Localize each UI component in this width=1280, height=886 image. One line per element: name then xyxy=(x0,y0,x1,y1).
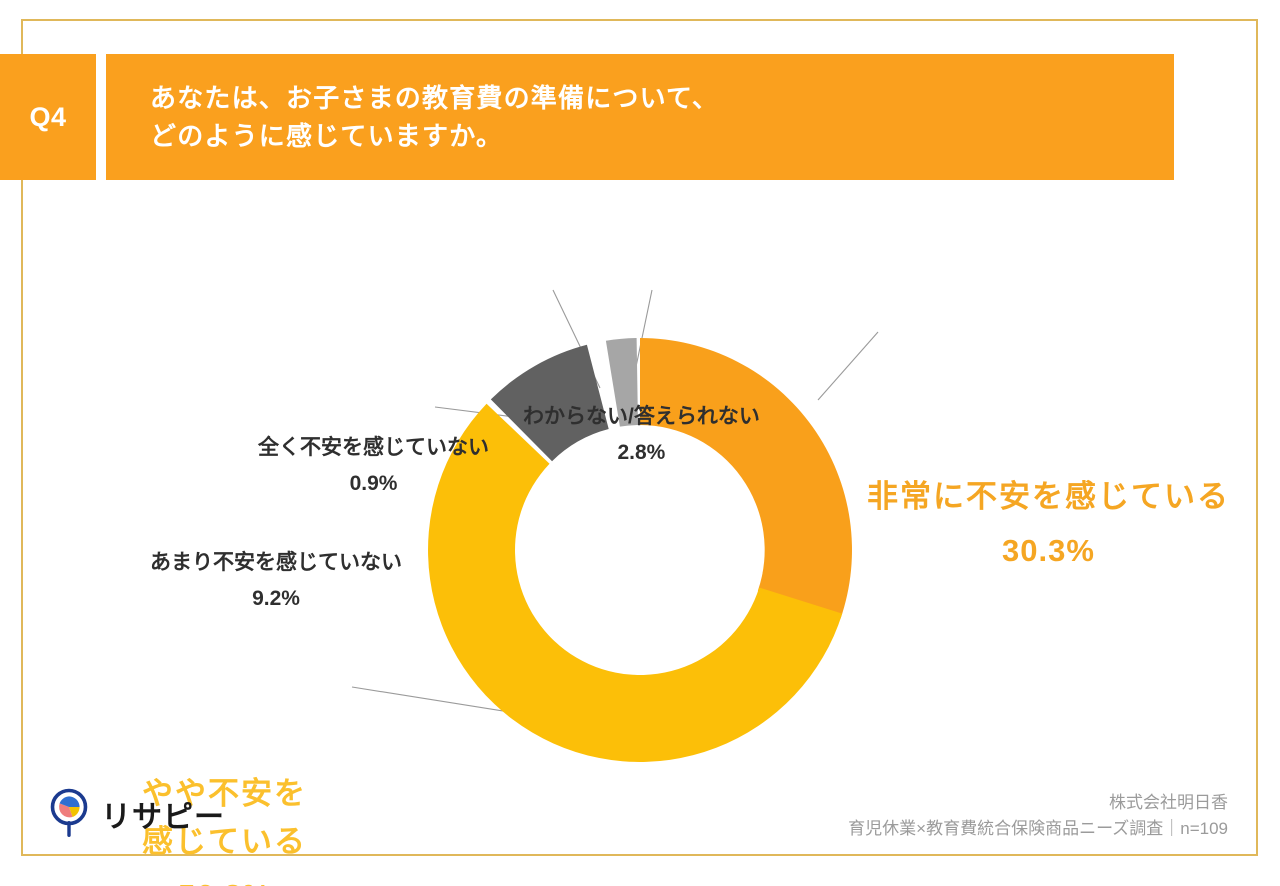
callout-not-much-value: 9.2% xyxy=(150,584,402,614)
footer-credits: 株式会社明日香 育児休業×教育費統合保険商品ニーズ調査｜n=109 xyxy=(848,790,1228,843)
callout-dont-know-value: 2.8% xyxy=(523,438,760,468)
donut-chart xyxy=(400,335,880,765)
slide-root: Q4 あなたは、お子さまの教育費の準備について、 どのように感じていますか。 xyxy=(0,0,1280,886)
callout-very-anxious: 非常に不安を感じている 30.3% xyxy=(867,473,1230,575)
callout-somewhat-anxious-value: 56.8% xyxy=(142,872,307,886)
donut-slice-very-anxious xyxy=(640,338,852,619)
question-number-badge: Q4 xyxy=(0,54,96,180)
question-title: あなたは、お子さまの教育費の準備について、 どのように感じていますか。 xyxy=(106,54,1174,180)
question-header: Q4 あなたは、お子さまの教育費の準備について、 どのように感じていますか。 xyxy=(0,54,1174,180)
callout-dont-know-label: わからない/答えられない xyxy=(523,402,760,432)
risapy-logo-icon xyxy=(48,788,90,840)
brand-lockup: リサピー xyxy=(48,788,225,840)
callout-not-at-all: 全く不安を感じていない 0.9% xyxy=(258,433,489,500)
donut-chart-area: 非常に不安を感じている 30.3% やや不安を 感じている 56.8% あまり不… xyxy=(0,180,1280,800)
footer-survey-name: 育児休業×教育費統合保険商品ニーズ調査｜n=109 xyxy=(848,816,1228,842)
slide-footer: リサピー 株式会社明日香 育児休業×教育費統合保険商品ニーズ調査｜n=109 xyxy=(0,788,1280,858)
callout-not-much-label: あまり不安を感じていない xyxy=(150,548,402,578)
brand-name: リサピー xyxy=(101,792,225,836)
callout-very-anxious-label-line-1: 非常に不安を感じている xyxy=(867,473,1230,521)
footer-company: 株式会社明日香 xyxy=(848,790,1228,816)
callout-not-at-all-value: 0.9% xyxy=(258,469,489,499)
question-title-line-1: あなたは、お子さまの教育費の準備について、 xyxy=(150,79,1174,117)
callout-not-much: あまり不安を感じていない 9.2% xyxy=(150,548,402,615)
callout-dont-know: わからない/答えられない 2.8% xyxy=(523,402,760,469)
callout-not-at-all-label: 全く不安を感じていない xyxy=(258,433,489,463)
question-title-line-2: どのように感じていますか。 xyxy=(150,117,1174,155)
callout-very-anxious-value: 30.3% xyxy=(867,527,1230,575)
